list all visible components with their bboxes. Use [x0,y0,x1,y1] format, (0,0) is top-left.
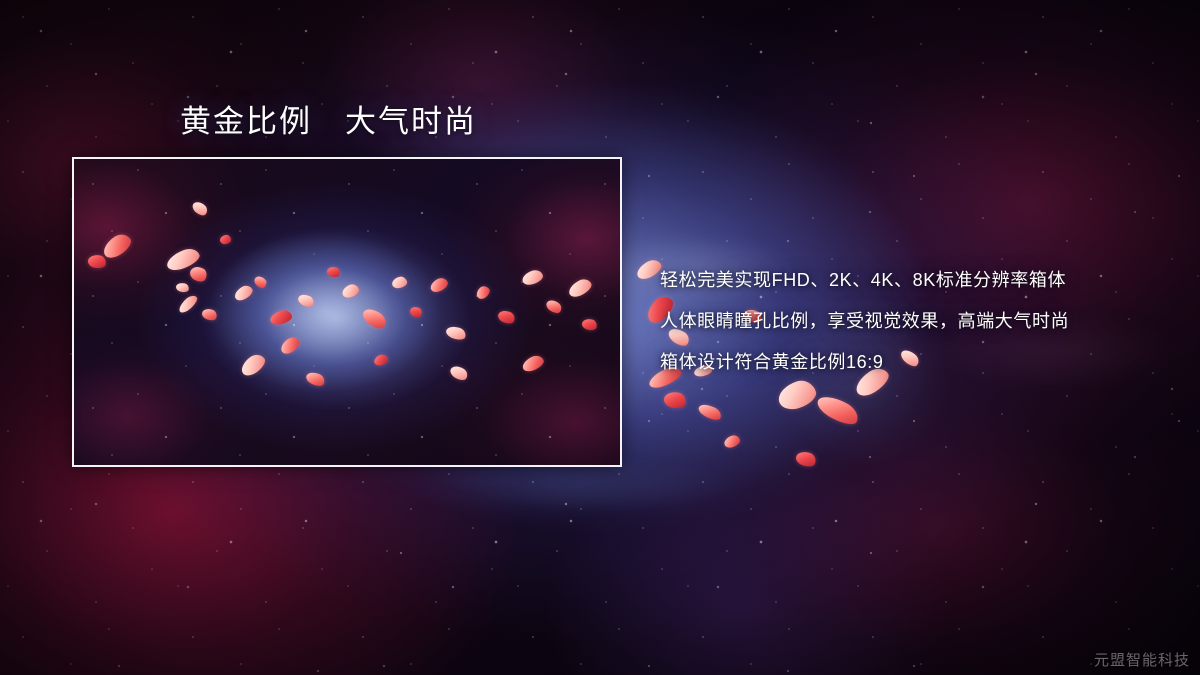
body-line: 轻松完美实现FHD、2K、4K、8K标准分辨率箱体 [660,260,1172,301]
body-line: 人体眼睛瞳孔比例，享受视觉效果，高端大气时尚 [660,301,1172,342]
display-starfield [74,159,620,465]
led-display-frame [72,157,622,467]
page-title: 黄金比例 大气时尚 [180,103,477,142]
display-screen-content [74,159,620,465]
presentation-slide: 黄金比例 大气时尚 [0,0,1200,675]
watermark: 元盟智能科技 [1094,649,1190,670]
body-line: 箱体设计符合黄金比例16:9 [660,342,1172,383]
body-text-block: 轻松完美实现FHD、2K、4K、8K标准分辨率箱体 人体眼睛瞳孔比例，享受视觉效… [660,260,1172,383]
